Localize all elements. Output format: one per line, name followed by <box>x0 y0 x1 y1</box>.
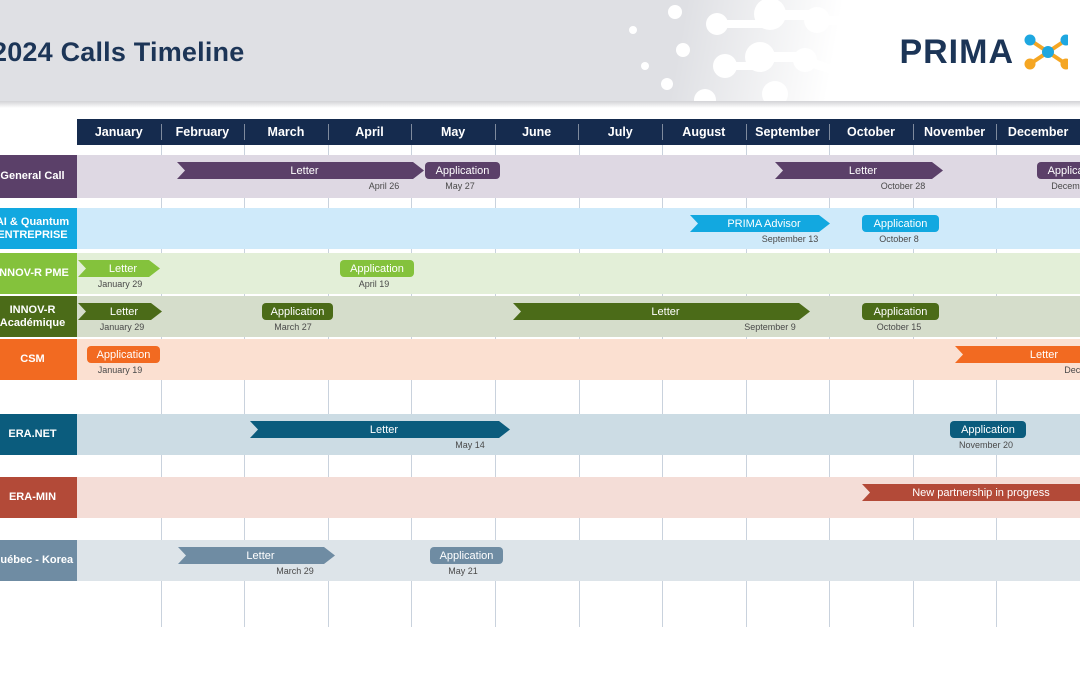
timeline-bar-badge[interactable]: Application <box>950 421 1026 438</box>
row-label-qu-bec-korea[interactable]: Québec - Korea <box>0 540 77 581</box>
timeline-row: Québec - KoreaLetterMarch 29ApplicationM… <box>0 540 1080 581</box>
timeline-row: INNOV-R AcadémiqueLetterJanuary 29Applic… <box>0 296 1080 337</box>
timeline-bar-arrow[interactable]: Letter <box>955 346 1080 363</box>
timeline-bar-arrow[interactable]: Letter <box>78 303 162 320</box>
month-header-row: JanuaryFebruaryMarchAprilMayJuneJulyAugu… <box>77 119 1080 145</box>
timeline-bar-badge[interactable]: Application <box>430 547 503 564</box>
timeline-bar-date: January 29 <box>82 322 162 332</box>
timeline-bar-arrow[interactable]: Letter <box>775 162 943 179</box>
timeline-bar-date: April 19 <box>334 279 414 289</box>
timeline-bar-date: September 13 <box>750 234 830 244</box>
row-band <box>77 253 1080 294</box>
row-label-innov-r-acad-mique[interactable]: INNOV-R Académique <box>0 296 77 337</box>
timeline-bar-date: May 21 <box>423 566 503 576</box>
timeline-bar-date: November 20 <box>946 440 1026 450</box>
timeline-bar-badge[interactable]: Application <box>87 346 160 363</box>
timeline-bar-badge[interactable]: Application <box>1037 162 1080 179</box>
row-label-ai-quantum-entreprise[interactable]: AI & Quantum ENTREPRISE <box>0 208 77 249</box>
timeline-bar-arrow[interactable]: PRIMA Advisor <box>690 215 830 232</box>
timeline-bar-date: May 27 <box>420 181 500 191</box>
timeline-bar-date: March 29 <box>255 566 335 576</box>
timeline-bar-date: September 9 <box>730 322 810 332</box>
month-header-july: July <box>578 119 662 145</box>
timeline-bar-arrow[interactable]: Letter <box>513 303 810 320</box>
slide-root: 2024 Calls Timeline PRIMA JanuaryFebruar <box>0 0 1080 675</box>
timeline-bar-arrow[interactable]: Letter <box>250 421 510 438</box>
row-label-csm[interactable]: CSM <box>0 339 77 380</box>
molecule-icon <box>1022 30 1068 74</box>
timeline-row: CSMApplicationJanuary 19LetterDecember <box>0 339 1080 380</box>
row-band <box>77 414 1080 455</box>
timeline-bar-date: December <box>1032 181 1080 191</box>
timeline-bar-date: October 28 <box>863 181 943 191</box>
timeline-row: INNOV-R PMELetterJanuary 29ApplicationAp… <box>0 253 1080 294</box>
month-header-august: August <box>662 119 746 145</box>
timeline-bar-arrow[interactable]: Letter <box>177 162 424 179</box>
timeline-bar-date: October 8 <box>859 234 939 244</box>
timeline-bar-badge[interactable]: Application <box>862 215 939 232</box>
timeline-row: ERA-MINNew partnership in progress <box>0 477 1080 518</box>
timeline-chart: JanuaryFebruaryMarchAprilMayJuneJulyAugu… <box>0 108 1080 675</box>
row-label-era-net[interactable]: ERA.NET <box>0 414 77 455</box>
timeline-row: General CallLetterApril 26ApplicationMay… <box>0 155 1080 198</box>
month-header-september: September <box>746 119 830 145</box>
timeline-bar-arrow[interactable]: New partnership in progress <box>862 484 1080 501</box>
timeline-bar-date: January 19 <box>80 365 160 375</box>
month-header-may: May <box>411 119 495 145</box>
timeline-bar-arrow[interactable]: Letter <box>78 260 160 277</box>
slide-header: 2024 Calls Timeline PRIMA <box>0 0 1080 101</box>
row-label-era-min[interactable]: ERA-MIN <box>0 477 77 518</box>
header-shadow <box>0 101 1080 108</box>
timeline-bar-date: October 15 <box>859 322 939 332</box>
month-header-october: October <box>829 119 913 145</box>
timeline-bar-date: March 27 <box>253 322 333 332</box>
timeline-bar-arrow[interactable]: Letter <box>178 547 335 564</box>
row-band <box>77 339 1080 380</box>
timeline-bar-badge[interactable]: Application <box>425 162 500 179</box>
timeline-row: ERA.NETLetterMay 14ApplicationNovember 2… <box>0 414 1080 455</box>
brand-name: PRIMA <box>899 33 1014 72</box>
timeline-bar-badge[interactable]: Application <box>862 303 939 320</box>
timeline-row: AI & Quantum ENTREPRISEPRIMA AdvisorSept… <box>0 208 1080 249</box>
brand-logo: PRIMA <box>899 30 1068 74</box>
page-title: 2024 Calls Timeline <box>0 37 244 68</box>
month-header-january: January <box>77 119 161 145</box>
month-header-december: December <box>996 119 1080 145</box>
month-header-april: April <box>328 119 412 145</box>
row-label-general-call[interactable]: General Call <box>0 155 77 198</box>
timeline-bar-date: December <box>1045 365 1080 375</box>
timeline-bar-badge[interactable]: Application <box>340 260 414 277</box>
month-header-march: March <box>244 119 328 145</box>
month-header-february: February <box>161 119 245 145</box>
timeline-bar-date: April 26 <box>344 181 424 191</box>
row-label-innov-r-pme[interactable]: INNOV-R PME <box>0 253 77 294</box>
timeline-bar-badge[interactable]: Application <box>262 303 333 320</box>
timeline-bar-date: May 14 <box>430 440 510 450</box>
month-header-november: November <box>913 119 997 145</box>
timeline-bar-date: January 29 <box>80 279 160 289</box>
month-header-june: June <box>495 119 579 145</box>
